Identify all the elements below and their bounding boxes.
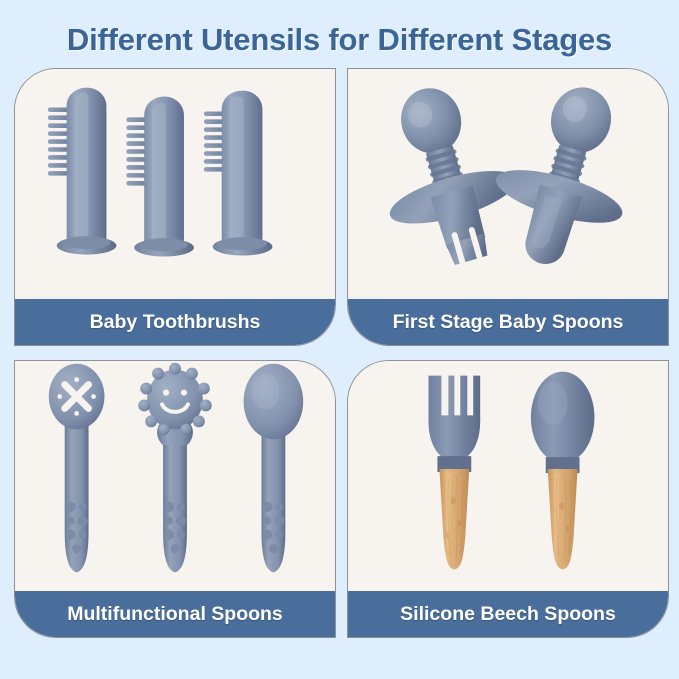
infographic-page: Different Utensils for Different Stages [0, 0, 679, 679]
smiley-face-fork [138, 363, 212, 573]
panel-baby-toothbrushes[interactable]: Baby Toothbrushs [14, 68, 336, 346]
panel-caption-baby-toothbrushes: Baby Toothbrushs [15, 299, 335, 345]
toothbrush-1 [48, 88, 117, 255]
beech-handle-spoon [531, 372, 595, 570]
product-image-multifunctional-spoons [15, 361, 335, 593]
panel-caption-multifunctional-spoons: Multifunctional Spoons [15, 591, 335, 637]
beech-handle-fork [428, 376, 480, 570]
panel-caption-silicone-beech-spoons: Silicone Beech Spoons [348, 591, 668, 637]
panel-multifunctional-spoons[interactable]: Multifunctional Spoons [14, 360, 336, 638]
product-image-first-stage-baby-spoons [348, 69, 668, 301]
panel-caption-first-stage-baby-spoons: First Stage Baby Spoons [348, 299, 668, 345]
product-image-baby-toothbrushes [15, 69, 335, 301]
product-image-silicone-beech-spoons [348, 361, 668, 593]
cross-slot-spoon [49, 364, 105, 573]
plain-spoon [244, 364, 304, 573]
toothbrush-2 [126, 97, 194, 257]
panel-silicone-beech-spoons[interactable]: Silicone Beech Spoons [347, 360, 669, 638]
panel-first-stage-baby-spoons[interactable]: First Stage Baby Spoons [347, 68, 669, 346]
first-stage-spoon [477, 70, 653, 281]
page-title: Different Utensils for Different Stages [0, 22, 679, 58]
panel-grid: Baby Toothbrushs [14, 68, 669, 658]
toothbrush-3 [204, 91, 273, 256]
